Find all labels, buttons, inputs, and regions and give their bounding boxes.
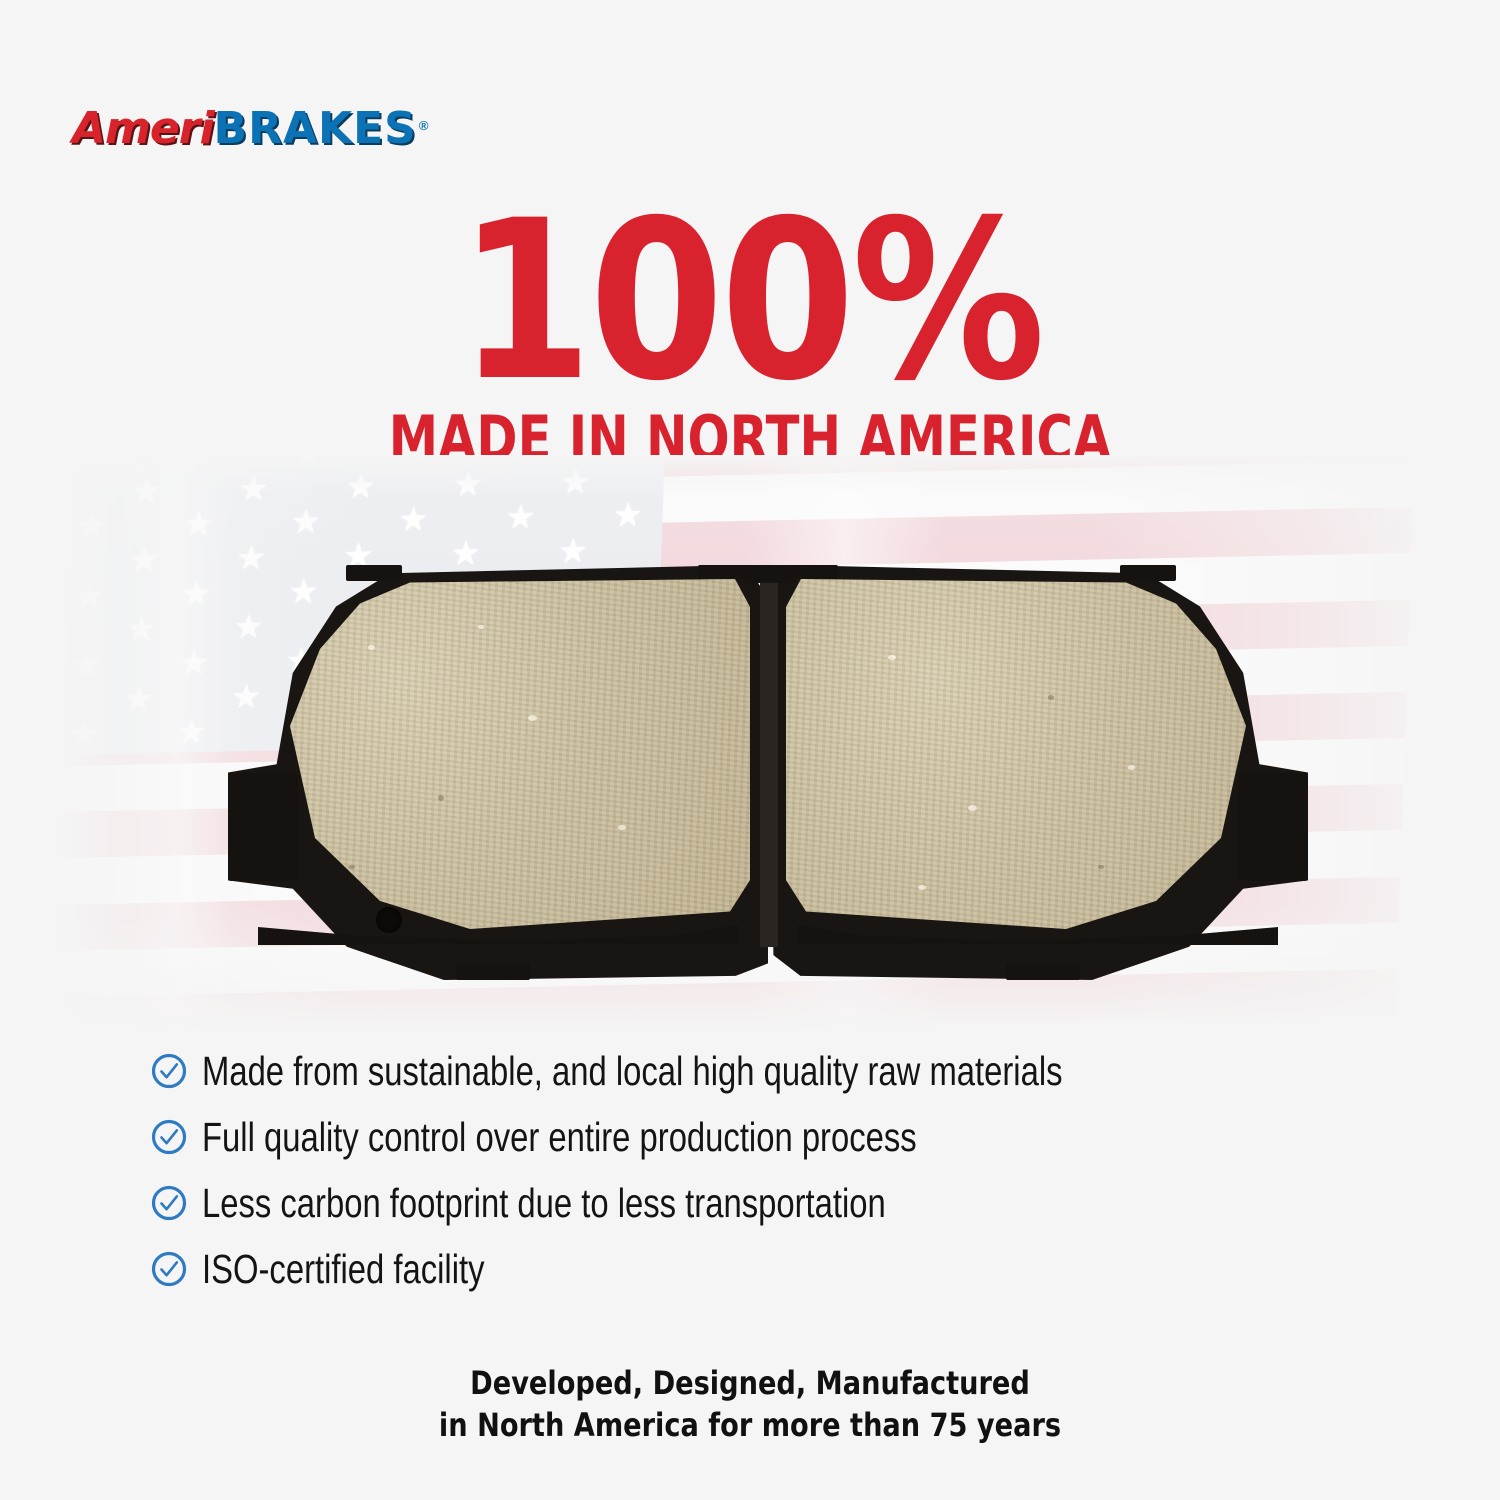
list-item: Less carbon footprint due to less transp… [150,1170,1400,1236]
pad-ear-right [1238,773,1308,881]
check-circle-icon [150,1184,188,1222]
footer-line-1: Developed, Designed, Manufactured [113,1362,1388,1404]
list-item: Full quality control over entire product… [150,1104,1400,1170]
pad-ear-left [228,773,298,881]
check-circle-icon [150,1250,188,1288]
list-item: ISO-certified facility [150,1236,1400,1302]
pad-tab-bottom [1006,963,1080,980]
bullet-text: Made from sustainable, and local high qu… [202,1051,1063,1092]
check-circle-icon [150,1118,188,1156]
brake-pad-right [768,565,1308,980]
bullet-text: ISO-certified facility [202,1249,485,1290]
brake-pad-left [228,565,768,980]
logo-text-brakes: BRAKES [214,107,417,151]
marketing-graphic: AmeriBRAKES® 100% MADE IN NORTH AMERICA … [0,0,1500,1500]
bullet-text: Less carbon footprint due to less transp… [202,1183,886,1224]
brand-logo: AmeriBRAKES® [72,98,428,160]
pad-tab-top [1120,565,1176,581]
pad-tab-bottom [456,963,530,980]
brake-pad-product-image [228,565,1308,980]
footer-block: Developed, Designed, Manufactured in Nor… [0,1362,1500,1446]
headline-percent: 100% [90,200,1410,402]
headline-block: 100% MADE IN NORTH AMERICA [0,200,1500,470]
bullet-text: Full quality control over entire product… [202,1117,917,1158]
footer-line-2: in North America for more than 75 years [113,1404,1388,1446]
registered-trademark-icon: ® [419,118,429,133]
pad-center-seam [760,565,778,947]
pad-center-tab [744,565,796,583]
feature-bullet-list: Made from sustainable, and local high qu… [150,1038,1400,1302]
logo-text-ameri: Ameri [72,107,214,151]
check-circle-icon [150,1052,188,1090]
list-item: Made from sustainable, and local high qu… [150,1038,1400,1104]
pad-tab-top [346,565,402,581]
pad-mounting-hole [376,907,402,933]
